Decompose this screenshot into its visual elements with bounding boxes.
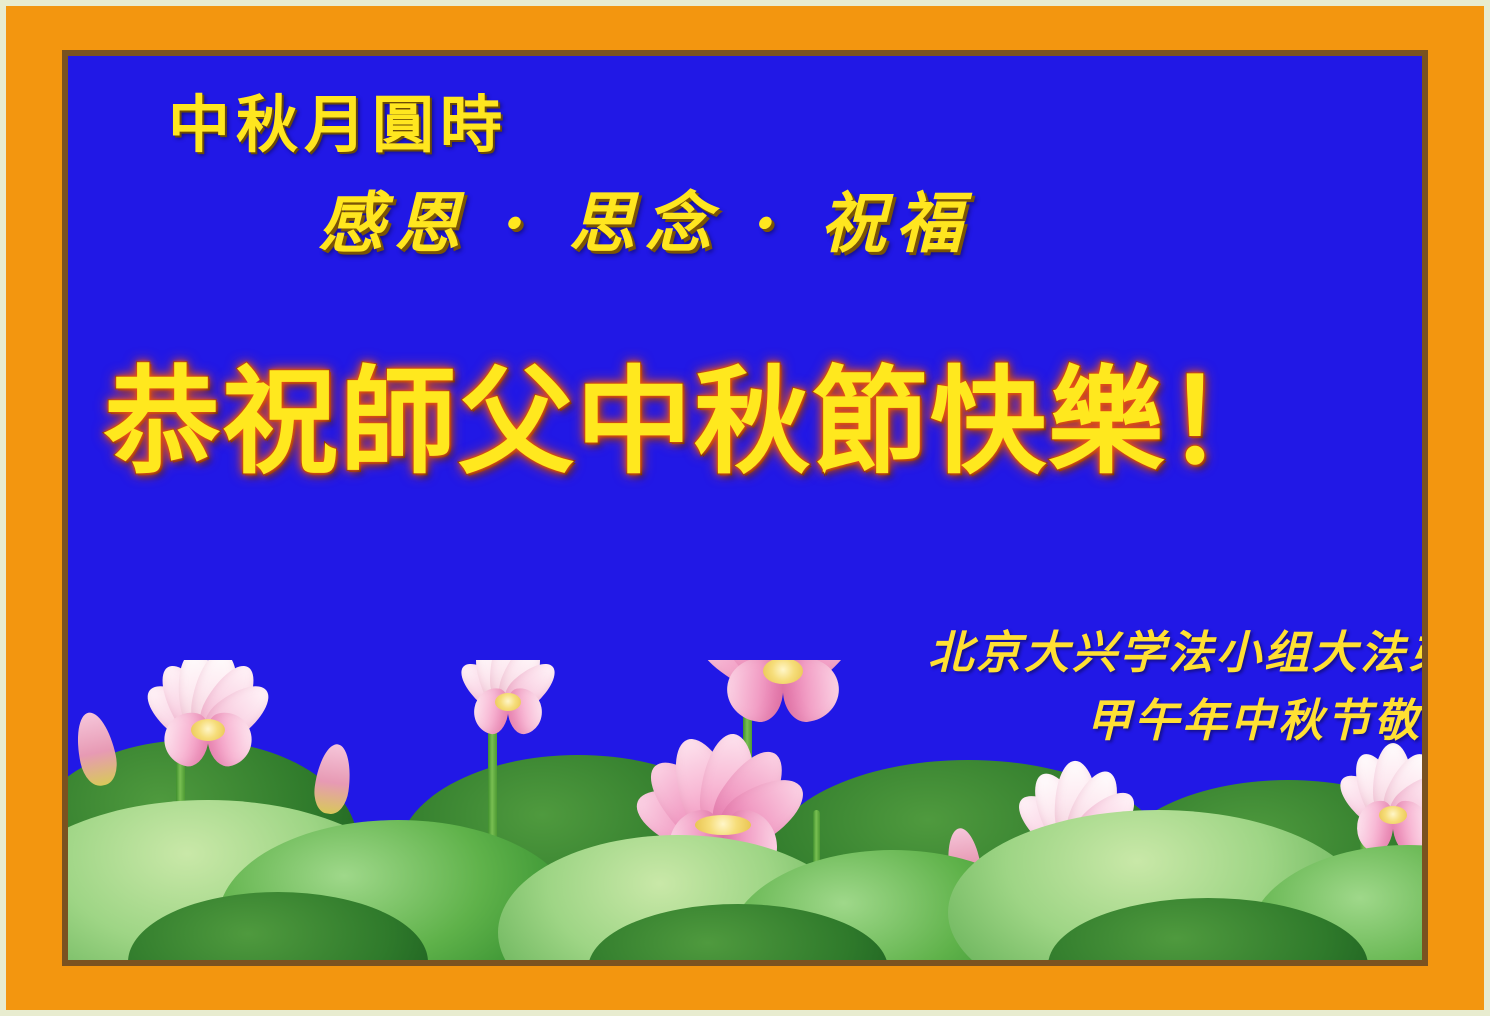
lotus-heart — [495, 693, 521, 711]
lotus-heart — [695, 815, 751, 835]
lotus-center-tall-pink — [678, 660, 888, 746]
card-blue-field: 中秋月圓時 感恩 · 思念 · 祝福 恭祝師父中秋節快樂！ 北京大兴学法小组大法… — [68, 56, 1422, 960]
lotus-midleft-small — [433, 660, 583, 752]
signature-line-1: 北京大兴学法小组大法弟子 — [928, 616, 1422, 681]
signature-line-2: 甲午年中秋节敬拜 — [1086, 684, 1422, 749]
greeting-card: 中秋月圓時 感恩 · 思念 · 祝福 恭祝師父中秋節快樂！ 北京大兴学法小组大法… — [0, 0, 1490, 1016]
greeting-line-2: 感恩 · 思念 · 祝福 — [318, 170, 972, 266]
greeting-headline: 恭祝師父中秋節快樂！ — [104, 328, 1284, 496]
lotus-bud-mid — [311, 742, 354, 816]
lotus-left-pale — [118, 670, 298, 790]
lotus-heart — [191, 719, 225, 741]
lotus-heart — [1379, 806, 1407, 824]
greeting-line-1: 中秋月圓時 — [168, 74, 508, 164]
